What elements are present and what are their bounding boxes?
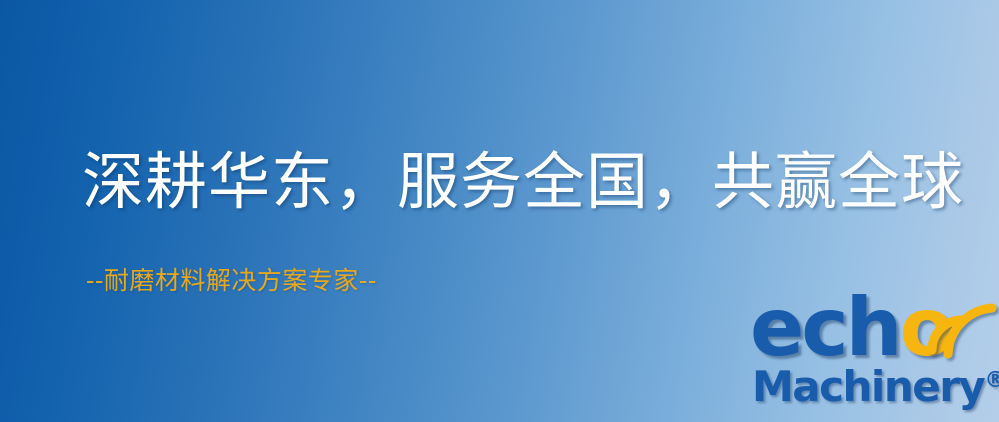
signal-waves-icon	[922, 294, 996, 360]
registered-trademark-icon: ®	[984, 368, 999, 393]
promo-banner: 深耕华东，服务全国，共赢全球 --耐磨材料解决方案专家-- echo Machi…	[0, 0, 999, 422]
banner-subtitle: --耐磨材料解决方案专家--	[86, 266, 377, 296]
logo-tagline-text: Machinery	[752, 362, 984, 411]
echo-machinery-logo: echo Machinery®	[744, 294, 996, 420]
logo-tagline: Machinery®	[752, 366, 999, 408]
banner-headline: 深耕华东，服务全国，共赢全球	[82, 149, 964, 214]
logo-wordmark-prefix: ech	[750, 281, 900, 374]
